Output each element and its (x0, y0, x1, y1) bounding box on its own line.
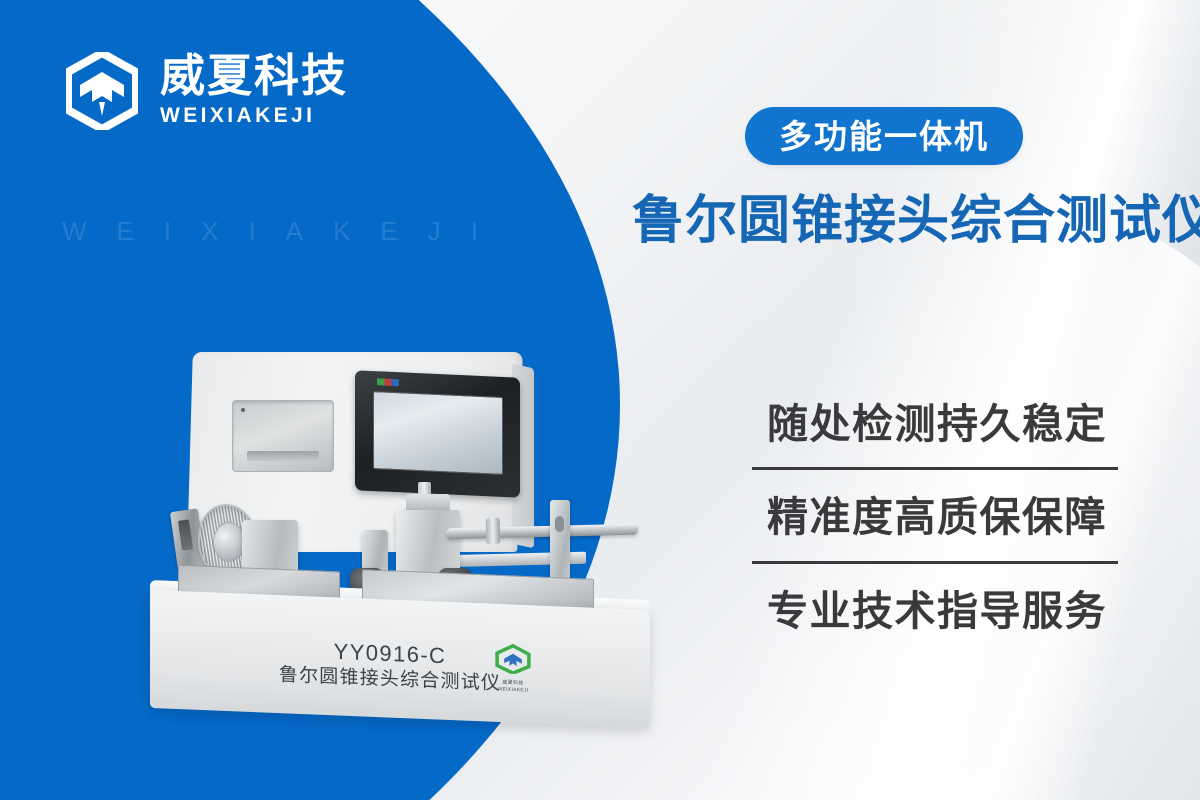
brand-name-cn: 威夏科技 (160, 52, 348, 99)
feature-list: 随处检测持久稳定 精准度高质保保障 专业技术指导服务 (752, 395, 1122, 641)
machine-recessed-plate (232, 400, 334, 472)
machine-brand-badge: 威夏科技 WEIXIAKEJI (490, 643, 536, 693)
feature-divider (752, 467, 1118, 470)
brand-text: 威夏科技 WEIXIAKEJI (160, 52, 348, 131)
feature-item: 精准度高质保保障 (752, 488, 1122, 547)
dial-hub (213, 522, 245, 562)
feature-divider (752, 561, 1118, 564)
category-badge: 多功能一体机 (745, 107, 1023, 165)
machine-plate-screw (241, 408, 245, 412)
shaft-collar (486, 518, 501, 544)
brand-watermark: WEIXIAKEJI (62, 216, 508, 247)
machine-plate-bar (247, 451, 319, 461)
product-image: YY0916-C 鲁尔圆锥接头综合测试仪 威夏科技 WEIXIAKEJI (150, 352, 660, 762)
brand-logo: 威夏科技 WEIXIAKEJI (66, 52, 348, 131)
hmi-brand-strip-icon (377, 378, 399, 386)
page-title: 鲁尔圆锥接头综合测试仪 (632, 192, 1200, 252)
u-bracket-slot (555, 516, 564, 532)
hmi-screen-display[interactable] (373, 391, 503, 475)
hexagon-mountain-logo-icon (66, 52, 138, 130)
hexagon-mountain-logo-icon (491, 643, 535, 675)
feature-item: 随处检测持久稳定 (752, 395, 1122, 454)
brand-name-en: WEIXIAKEJI (160, 101, 348, 130)
category-badge-label: 多功能一体机 (779, 120, 989, 153)
product-banner: WEIXIAKEJI 威夏科技 WEIXIAKEJI 多功能一体机 鲁尔圆锥接头… (0, 0, 1200, 800)
feature-item: 专业技术指导服务 (752, 582, 1122, 641)
hmi-touchscreen[interactable] (355, 370, 520, 497)
